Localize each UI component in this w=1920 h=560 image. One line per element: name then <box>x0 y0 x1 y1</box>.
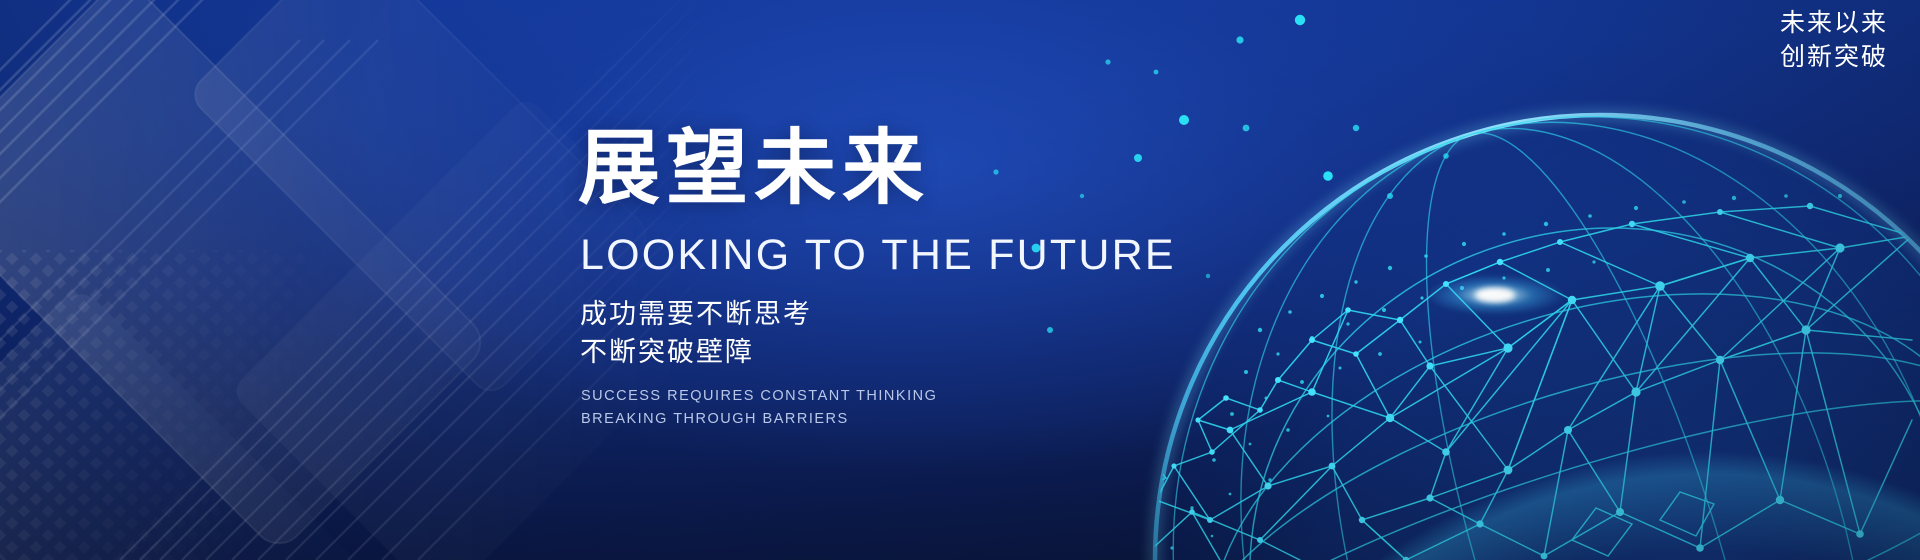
subtitle-chinese: 成功需要不断思考 不断突破壁障 <box>580 295 1218 372</box>
subtitle-english-line-1: SUCCESS REQUIRES CONSTANT THINKING <box>581 385 1218 408</box>
subtitle-chinese-line-2: 不断突破壁障 <box>580 333 1218 371</box>
corner-tagline-line-2: 创新突破 <box>1780 40 1888 74</box>
page-title-english: LOOKING TO THE FUTURE <box>580 234 1218 277</box>
subtitle-english: SUCCESS REQUIRES CONSTANT THINKING BREAK… <box>581 385 1218 432</box>
corner-tagline: 未来以来 创新突破 <box>1780 6 1888 74</box>
subtitle-chinese-line-1: 成功需要不断思考 <box>580 295 1218 333</box>
corner-tagline-line-1: 未来以来 <box>1780 6 1888 40</box>
headline-block: 展望未来 LOOKING TO THE FUTURE 成功需要不断思考 不断突破… <box>578 128 1218 432</box>
page-title: 展望未来 <box>578 128 1218 210</box>
subtitle-english-line-2: BREAKING THROUGH BARRIERS <box>581 408 1218 431</box>
promo-banner: 展望未来 LOOKING TO THE FUTURE 成功需要不断思考 不断突破… <box>0 0 1920 560</box>
